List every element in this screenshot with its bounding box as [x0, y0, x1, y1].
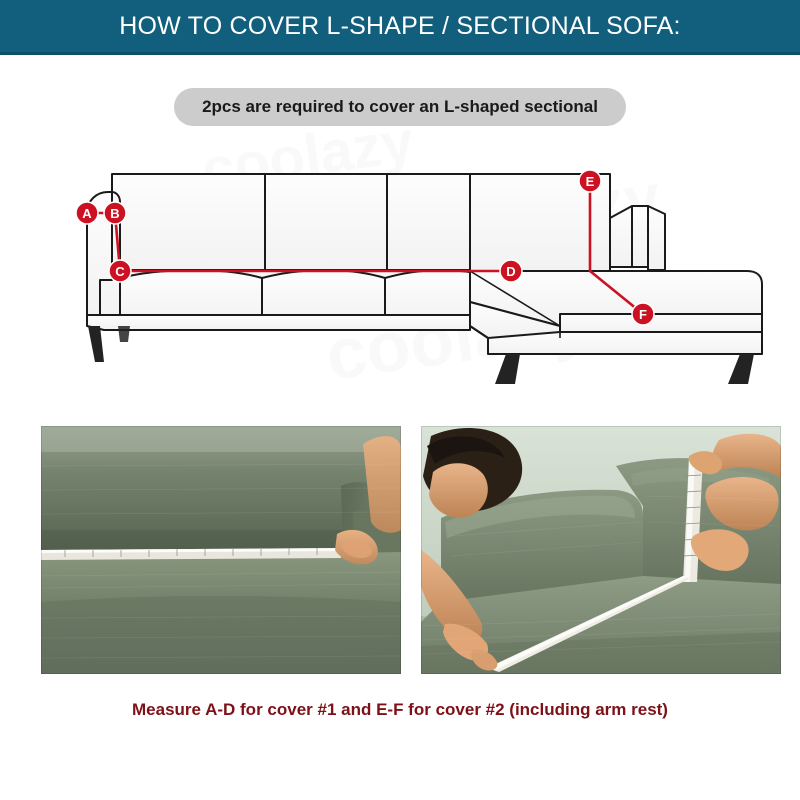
marker-c-label: C: [115, 264, 125, 279]
marker-c: C: [109, 260, 131, 282]
page-title: HOW TO COVER L-SHAPE / SECTIONAL SOFA:: [119, 12, 680, 41]
marker-b-label: B: [110, 206, 119, 221]
badge-row: 2pcs are required to cover an L-shaped s…: [0, 88, 800, 126]
marker-a-label: A: [82, 206, 92, 221]
marker-d: D: [500, 260, 522, 282]
photo-measure-seat-depth: [421, 426, 781, 674]
infographic-page: HOW TO COVER L-SHAPE / SECTIONAL SOFA: 2…: [0, 0, 800, 800]
header-bar: HOW TO COVER L-SHAPE / SECTIONAL SOFA:: [0, 0, 800, 55]
marker-f-label: F: [639, 307, 647, 322]
marker-e: E: [579, 170, 601, 192]
photo-measure-seat-width: [41, 426, 401, 674]
marker-a: A: [76, 202, 98, 224]
measure-instruction: Measure A-D for cover #1 and E-F for cov…: [0, 700, 800, 720]
requirement-badge: 2pcs are required to cover an L-shaped s…: [174, 88, 626, 126]
marker-d-label: D: [506, 264, 515, 279]
footer-row: Measure A-D for cover #1 and E-F for cov…: [0, 700, 800, 720]
sofa-diagram: coolazy coolazy coolazy: [0, 130, 800, 410]
photo-row: [0, 426, 800, 676]
marker-f: F: [632, 303, 654, 325]
sofa-outline: [85, 174, 762, 354]
marker-b: B: [104, 202, 126, 224]
marker-e-label: E: [586, 174, 595, 189]
tape-measure: [41, 548, 341, 560]
